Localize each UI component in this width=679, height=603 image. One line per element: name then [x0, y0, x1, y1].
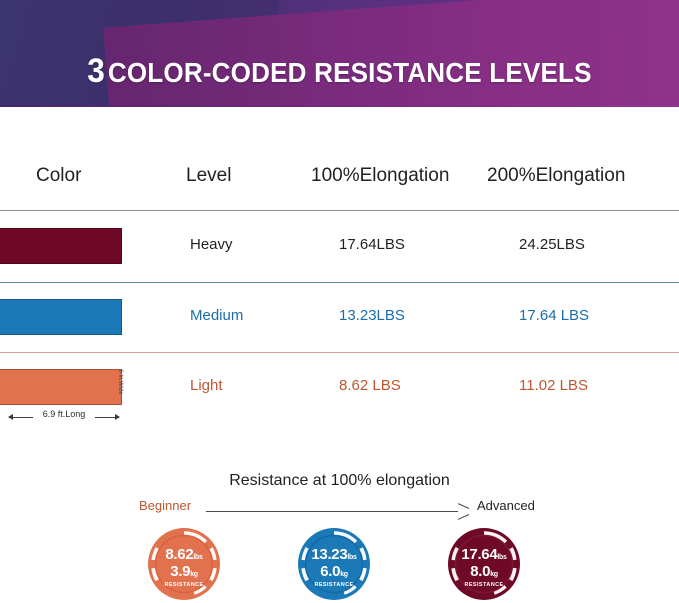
scale-end-label: Advanced [477, 498, 535, 513]
table-row: Medium 13.23LBS 17.64 LBS [0, 283, 679, 353]
cell-elongation-100: 13.23LBS [339, 307, 405, 324]
color-swatch-medium [0, 299, 122, 335]
cell-level: Medium [190, 307, 243, 324]
dimension-width-label: 6 In.Wide [117, 366, 123, 398]
cell-elongation-100: 17.64LBS [339, 236, 405, 253]
cell-elongation-200: 11.02 LBS [519, 377, 588, 394]
resistance-table: Color Level 100%Elongation 200%Elongatio… [0, 107, 679, 210]
table-row: Heavy 17.64LBS 24.25LBS [0, 212, 679, 282]
scale-arrow-icon [206, 506, 468, 517]
cell-elongation-200: 24.25LBS [519, 236, 585, 253]
dimension-arrow-left-icon [8, 414, 13, 420]
badge-ring-icon [295, 525, 373, 603]
column-header-elongation-200: 200%Elongation [487, 165, 625, 187]
dimension-width-annotation: 6 In.Wide [114, 367, 126, 405]
column-header-level: Level [186, 165, 231, 187]
table-header-row: Color Level 100%Elongation 200%Elongatio… [0, 107, 679, 210]
resistance-badge-heavy: 17.64lbs 8.0kg RESISTANCE [445, 525, 523, 603]
title-count: 3 [87, 52, 105, 90]
header-divider [0, 210, 679, 211]
dimension-length-annotation: 6.9 ft.Long [8, 411, 120, 425]
page-title: 3COLOR-CODED RESISTANCE LEVELS [24, 52, 655, 91]
title-text: COLOR-CODED RESISTANCE LEVELS [108, 57, 592, 88]
badge-ring-icon [145, 525, 223, 603]
cell-level: Light [190, 377, 223, 394]
column-header-elongation-100: 100%Elongation [311, 165, 449, 187]
column-header-color: Color [36, 165, 81, 187]
dimension-length-label: 6.9 ft.Long [33, 409, 95, 419]
cell-level: Heavy [190, 236, 233, 253]
dimension-arrow-right-icon [115, 414, 120, 420]
header-banner: 3COLOR-CODED RESISTANCE LEVELS [0, 0, 679, 107]
progression-scale: Beginner Advanced [0, 498, 679, 518]
cell-elongation-100: 8.62 LBS [339, 377, 401, 394]
cell-elongation-200: 17.64 LBS [519, 307, 589, 324]
color-swatch-light [0, 369, 122, 405]
table-row: 6 In.Wide 6.9 ft.Long Light 8.62 LBS 11.… [0, 353, 679, 423]
badge-ring-icon [445, 525, 523, 603]
resistance-badge-medium: 13.23lbs 6.0kg RESISTANCE [295, 525, 373, 603]
color-swatch-heavy [0, 228, 122, 264]
scale-title: Resistance at 100% elongation [0, 472, 679, 490]
resistance-badge-light: 8.62lbs 3.9kg RESISTANCE [145, 525, 223, 603]
scale-start-label: Beginner [139, 498, 191, 513]
